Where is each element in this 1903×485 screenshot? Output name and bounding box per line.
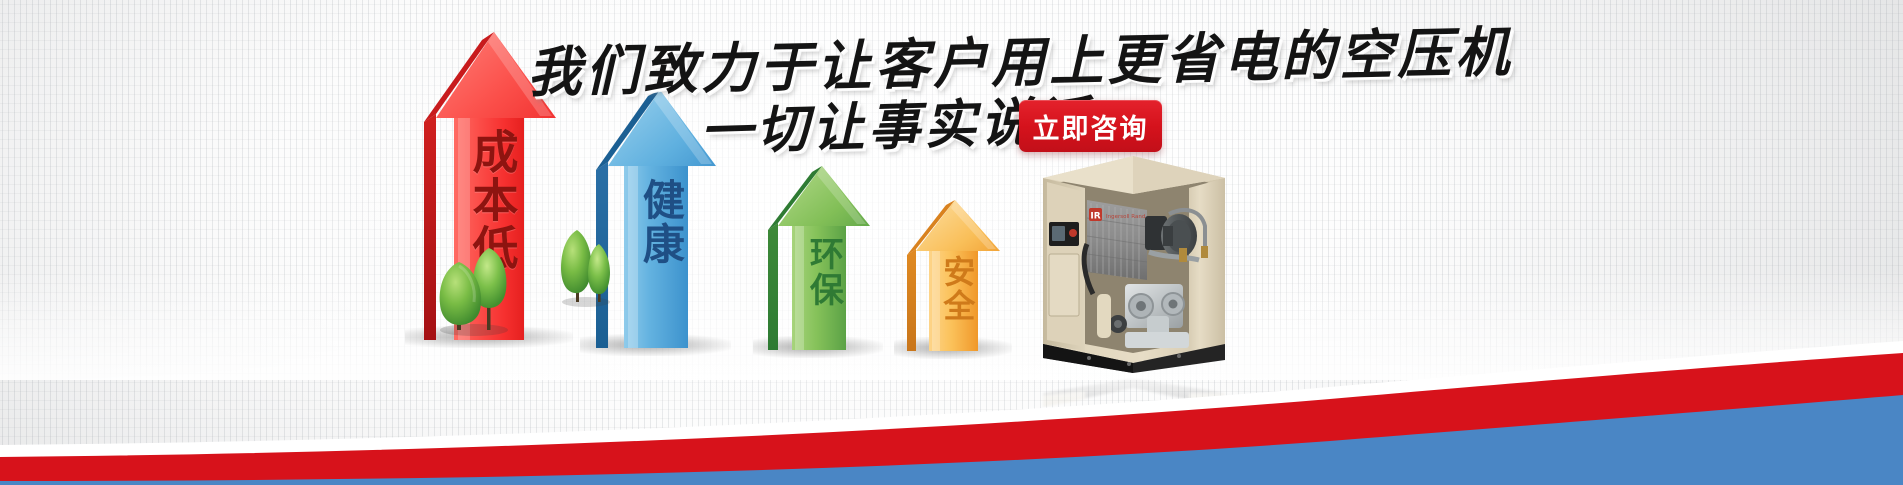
consult-now-button[interactable]: 立即咨询 [1019,100,1162,152]
promo-banner: 成本低 [0,0,1903,485]
arrow-health-label: 健康 [639,178,682,266]
consult-now-label: 立即咨询 [1033,107,1149,146]
bottom-wave-ribbon [0,295,1903,485]
svg-text:IR: IR [1090,212,1100,222]
svg-text:Ingersoll Rand: Ingersoll Rand [1106,214,1145,220]
